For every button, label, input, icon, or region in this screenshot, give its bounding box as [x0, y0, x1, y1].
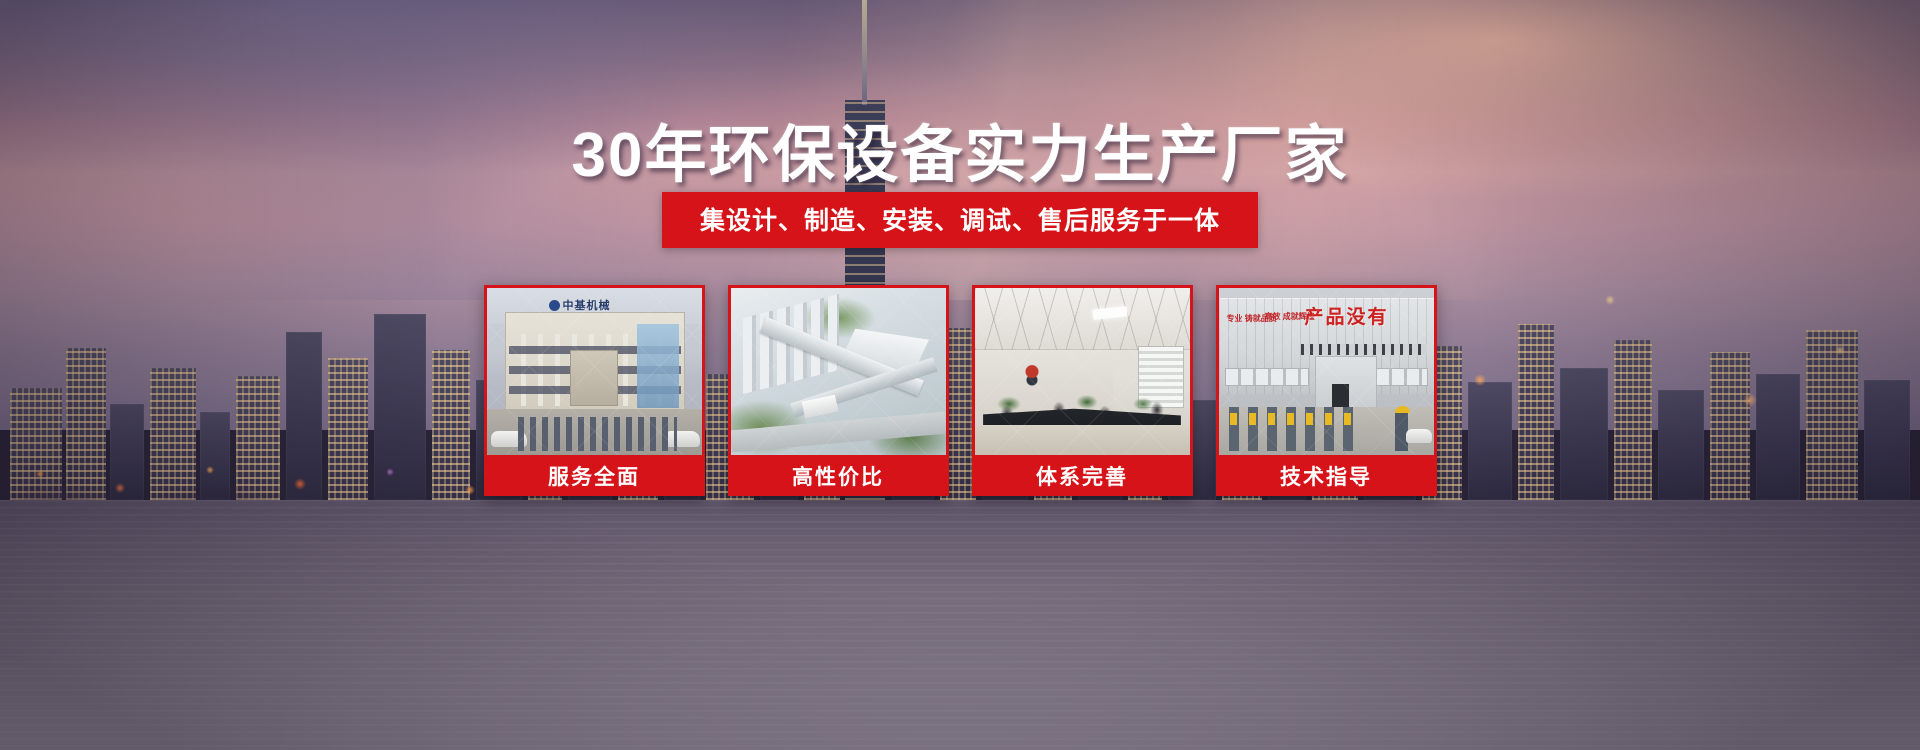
- card-thumbnail-office-building: 中基机械: [487, 288, 702, 455]
- subtitle-row: 集设计、制造、安装、调试、售后服务于一体: [0, 192, 1920, 248]
- banner-headline: 30年环保设备实力生产厂家: [0, 104, 1920, 194]
- card-thumbnail-factory: 专业 铸就品质 高效 成就辉煌 产品没有: [1219, 288, 1434, 455]
- feature-card[interactable]: 高性价比: [728, 285, 949, 496]
- card-caption: 技术指导: [1219, 455, 1434, 496]
- feature-card[interactable]: 中基机械 服务全面: [484, 285, 705, 496]
- card-thumbnail-office-interior: [975, 288, 1190, 455]
- feature-card[interactable]: 专业 铸就品质 高效 成就辉煌 产品没有 技术指导: [1216, 285, 1437, 496]
- feature-card-list: 中基机械 服务全面: [0, 285, 1920, 496]
- card-thumbnail-production-base: [731, 288, 946, 455]
- card-caption: 体系完善: [975, 455, 1190, 496]
- wall-emblem-icon: [1019, 362, 1045, 386]
- company-logo-mark: [549, 300, 560, 311]
- building-sign-text: 中基机械: [563, 297, 611, 313]
- banner-subtitle-ribbon: 集设计、制造、安装、调试、售后服务于一体: [662, 192, 1258, 248]
- card-caption: 服务全面: [487, 455, 702, 496]
- hero-banner: 30年环保设备实力生产厂家 集设计、制造、安装、调试、售后服务于一体 中基机械: [0, 0, 1920, 750]
- building-sign: 中基机械: [549, 298, 641, 312]
- factory-sign-text: 产品没有: [1305, 302, 1389, 329]
- card-caption: 高性价比: [731, 455, 946, 496]
- feature-card[interactable]: 体系完善: [972, 285, 1193, 496]
